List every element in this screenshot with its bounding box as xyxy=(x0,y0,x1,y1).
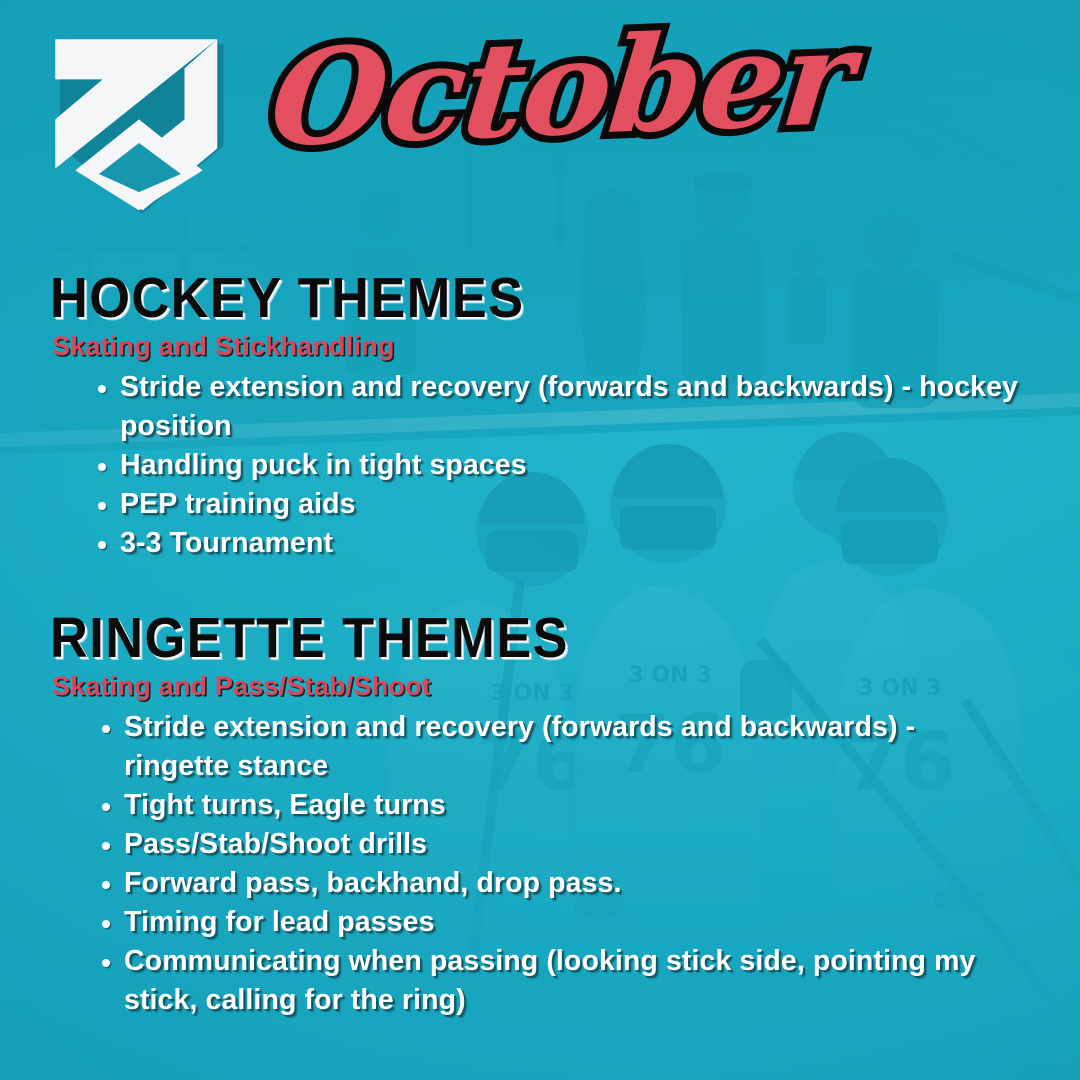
list-item: Communicating when passing (looking stic… xyxy=(124,942,1020,1020)
month-title: October xyxy=(265,12,857,166)
hockey-section-title: HOCKEY THEMES xyxy=(50,268,998,328)
list-item: Pass/Stab/Shoot drills xyxy=(124,825,1020,864)
hockey-section-subtitle: Skating and Stickhandling xyxy=(52,330,1080,362)
ringette-themes-section: RINGETTE THEMES Skating and Pass/Stab/Sh… xyxy=(0,608,1080,1020)
ringette-section-subtitle: Skating and Pass/Stab/Shoot xyxy=(52,670,1080,702)
z76-hockey-logo-icon xyxy=(48,32,230,214)
list-item: Stride extension and recovery (forwards … xyxy=(120,368,1020,446)
hockey-themes-section: HOCKEY THEMES Skating and Stickhandling … xyxy=(0,268,1080,563)
list-item: 3-3 Tournament xyxy=(120,524,1020,563)
list-item: Forward pass, backhand, drop pass. xyxy=(124,864,1020,903)
list-item: Timing for lead passes xyxy=(124,903,1020,942)
poster-canvas: 3 ON 3 76 3 ON 3 76 xyxy=(0,0,1080,1080)
list-item: Handling puck in tight spaces xyxy=(120,446,1020,485)
list-item: Tight turns, Eagle turns xyxy=(124,786,1020,825)
list-item: Stride extension and recovery (forwards … xyxy=(124,708,1020,786)
poster-content: October HOCKEY THEMES Skating and Stickh… xyxy=(0,0,1080,1080)
ringette-themes-list: Stride extension and recovery (forwards … xyxy=(0,708,1080,1020)
hockey-themes-list: Stride extension and recovery (forwards … xyxy=(0,368,1080,563)
list-item: PEP training aids xyxy=(120,485,1020,524)
ringette-section-title: RINGETTE THEMES xyxy=(50,608,998,668)
